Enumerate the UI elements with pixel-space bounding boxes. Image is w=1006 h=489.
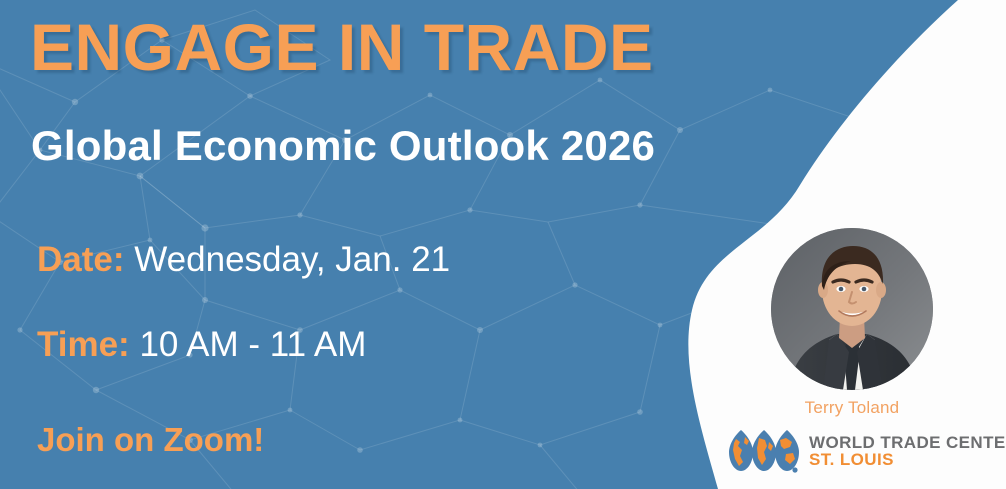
page-title: ENGAGE IN TRADE	[30, 14, 654, 81]
join-on-zoom-link[interactable]: Join on Zoom!	[37, 421, 264, 459]
webinar-promo-banner: ENGAGE IN TRADE Global Economic Outlook …	[0, 0, 1006, 489]
event-date-label: Date:	[37, 240, 125, 279]
speaker-name: Terry Toland	[744, 398, 960, 418]
speaker-headshot-illustration	[771, 228, 933, 390]
event-date-value: Wednesday, Jan. 21	[134, 240, 450, 279]
event-time-value: 10 AM - 11 AM	[139, 325, 366, 364]
speaker-avatar	[771, 228, 933, 390]
globe-mark-icon	[727, 428, 801, 474]
event-time-row: Time: 10 AM - 11 AM	[37, 325, 366, 365]
wtc-wordmark-line1-text: WORLD TRADE CENTER	[809, 433, 1006, 452]
wtc-wordmark-line1: WORLD TRADE CENTER®	[809, 434, 1006, 452]
page-subtitle: Global Economic Outlook 2026	[31, 122, 655, 170]
wtc-wordmark-line2: ST. LOUIS	[809, 451, 1006, 469]
event-time-label: Time:	[37, 325, 130, 364]
wtc-st-louis-logo: WORLD TRADE CENTER® ST. LOUIS	[727, 427, 977, 475]
promo-text-column: ENGAGE IN TRADE Global Economic Outlook …	[0, 0, 700, 489]
wtc-wordmark: WORLD TRADE CENTER® ST. LOUIS	[809, 434, 1006, 469]
event-date-row: Date: Wednesday, Jan. 21	[37, 240, 450, 280]
